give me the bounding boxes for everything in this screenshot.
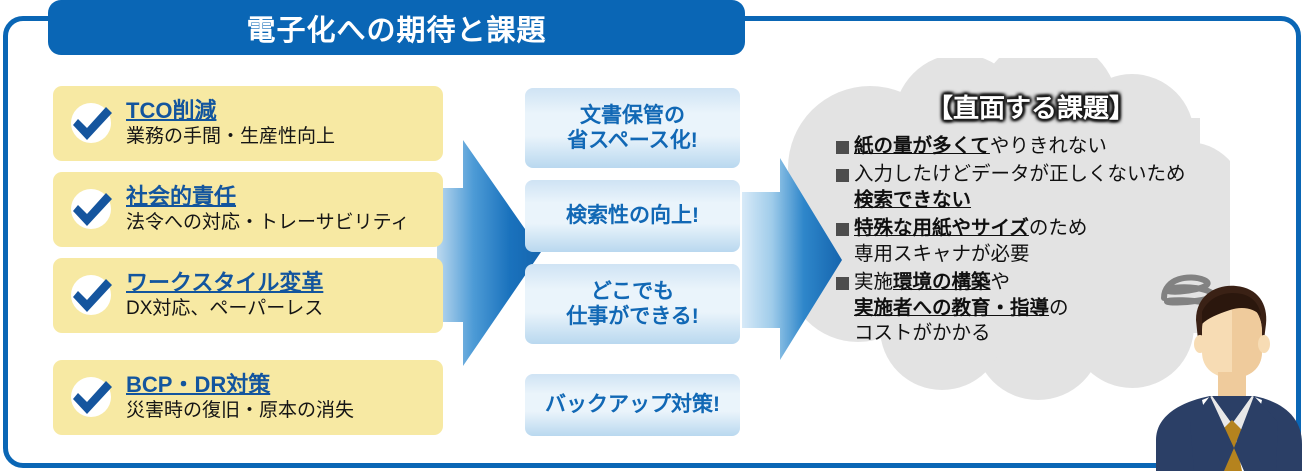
page-title-banner: 電子化への期待と課題: [48, 0, 745, 55]
benefit-card-social-responsibility: 社会的責任 法令への対応・トレーサビリティ: [53, 172, 443, 247]
issue-item: 入力したけどデータが正しくないため検索できない: [836, 162, 1226, 214]
effect-label: バックアップ対策!: [545, 392, 720, 417]
benefit-card-tco: TCO削減 業務の手間・生産性向上: [53, 86, 443, 161]
businessman-avatar: [1150, 248, 1304, 471]
benefit-title: BCP・DR対策: [126, 372, 354, 397]
effect-box-storage-space: 文書保管の 省スペース化!: [525, 88, 740, 168]
issues-heading: 【直面する課題】: [836, 88, 1226, 125]
benefit-title: TCO削減: [126, 98, 335, 123]
benefit-card-bcp-dr: BCP・DR対策 災害時の復旧・原本の消失: [53, 360, 443, 435]
page-title: 電子化への期待と課題: [246, 7, 546, 49]
benefit-card-workstyle: ワークスタイル変革 DX対応、ペーパーレス: [53, 258, 443, 333]
effect-box-backup: バックアップ対策!: [525, 374, 740, 436]
effect-box-work-anywhere: どこでも 仕事ができる!: [525, 264, 740, 344]
issue-item: 紙の量が多くてやりきれない: [836, 134, 1226, 160]
arrow-effects-to-issues-icon: [742, 150, 852, 370]
benefit-subtitle: 業務の手間・生産性向上: [126, 125, 335, 149]
benefit-title: 社会的責任: [126, 184, 409, 209]
check-icon: [62, 267, 120, 325]
benefit-subtitle: DX対応、ペーパーレス: [126, 297, 323, 321]
effect-label: どこでも 仕事ができる!: [566, 279, 699, 329]
issue-text: 入力したけどデータが正しくないため検索できない: [854, 162, 1226, 214]
check-icon: [62, 95, 120, 153]
check-icon: [62, 369, 120, 427]
issue-text: 紙の量が多くてやりきれない: [854, 134, 1226, 160]
benefit-subtitle: 災害時の復旧・原本の消失: [126, 399, 354, 423]
effect-label: 検索性の向上!: [566, 203, 699, 228]
effect-box-searchability: 検索性の向上!: [525, 180, 740, 252]
benefit-title: ワークスタイル変革: [126, 270, 323, 295]
benefit-subtitle: 法令への対応・トレーサビリティ: [126, 211, 409, 235]
effect-label: 文書保管の 省スペース化!: [567, 103, 697, 153]
check-icon: [62, 181, 120, 239]
